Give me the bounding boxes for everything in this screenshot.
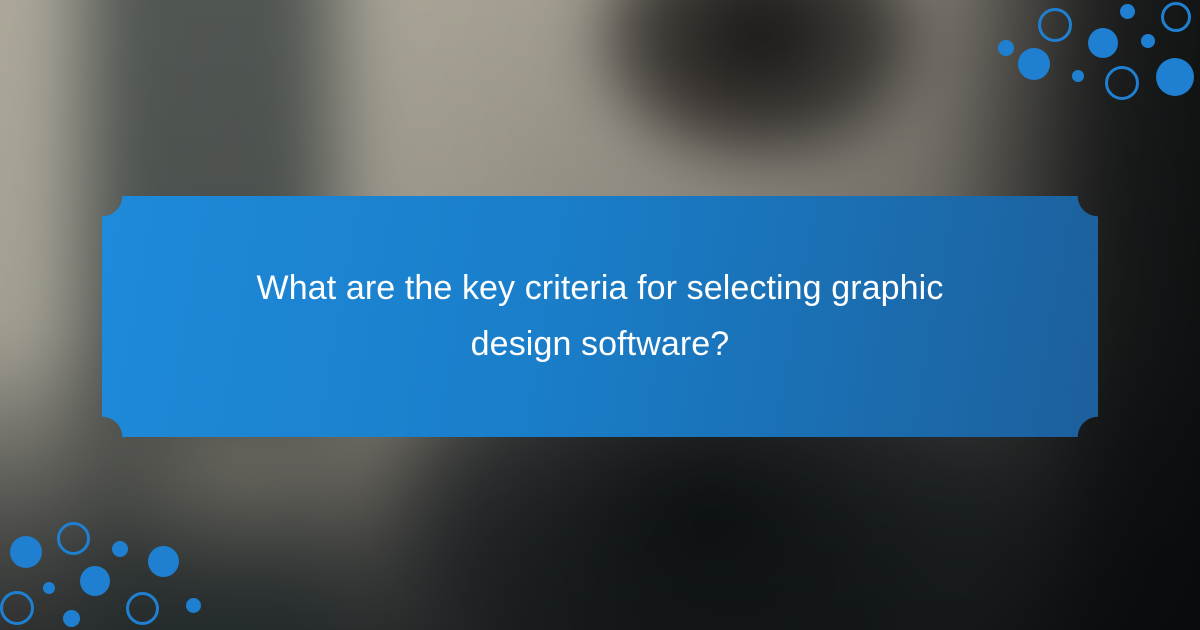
decorative-circle — [1156, 58, 1194, 96]
decorative-circle — [126, 592, 159, 625]
decorative-circle — [80, 566, 110, 596]
notch-top-right-icon — [1078, 196, 1098, 216]
decorative-circle — [1141, 34, 1155, 48]
decorative-circle — [0, 591, 34, 625]
question-text: What are the key criteria for selecting … — [205, 261, 995, 371]
notch-top-left-icon — [102, 196, 122, 216]
notch-bottom-right-icon — [1078, 417, 1098, 437]
decorative-circle — [1161, 2, 1191, 32]
question-card-image: What are the key criteria for selecting … — [0, 0, 1200, 630]
decorative-circle — [998, 40, 1014, 56]
decorative-circle — [10, 536, 42, 568]
decorative-circle — [43, 582, 55, 594]
decorative-circle — [1120, 4, 1135, 19]
decorative-circle — [1072, 70, 1084, 82]
decorative-circle — [1038, 8, 1072, 42]
decorative-circle — [1018, 48, 1050, 80]
decorative-circle — [186, 598, 201, 613]
decorative-circle — [148, 546, 179, 577]
notch-bottom-left-icon — [102, 417, 122, 437]
question-banner: What are the key criteria for selecting … — [102, 196, 1098, 437]
decorative-circle — [57, 522, 90, 555]
decorative-circle — [1088, 28, 1118, 58]
decorative-circle — [1105, 66, 1139, 100]
decorative-dots-bottom-left — [0, 495, 235, 630]
decorative-circle — [63, 610, 80, 627]
decorative-dots-top-right — [990, 0, 1200, 135]
decorative-circle — [112, 541, 128, 557]
